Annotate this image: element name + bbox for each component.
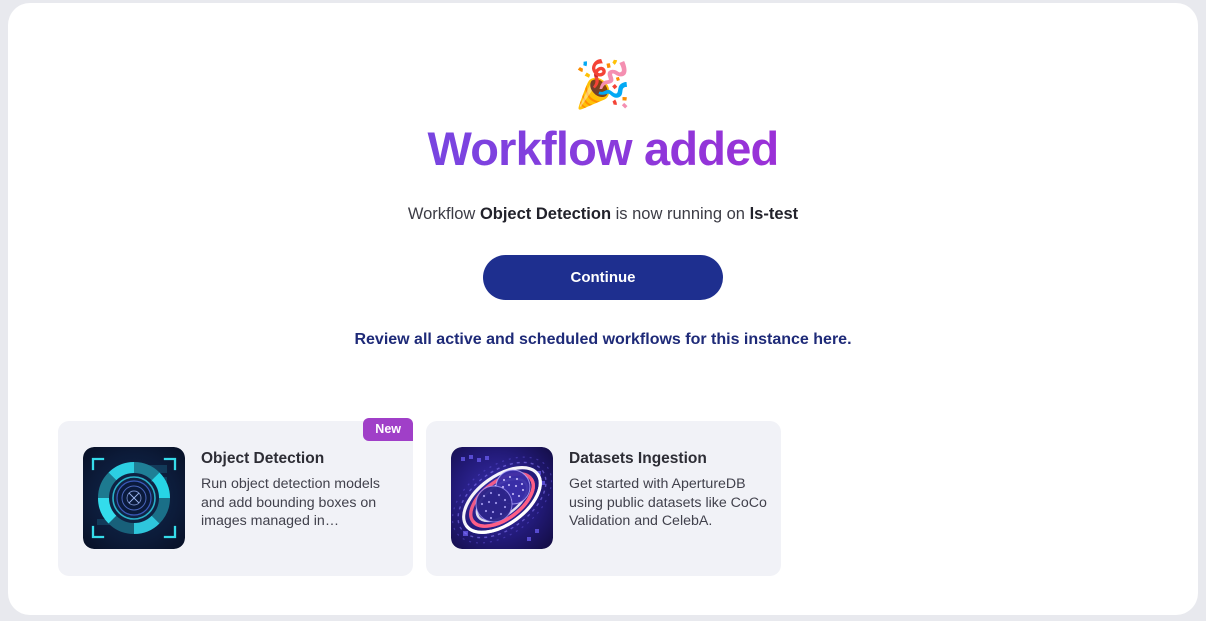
object-detection-thumbnail (83, 447, 185, 549)
card-content: Object Detection Run object detection mo… (83, 447, 399, 549)
card-text: Object Detection Run object detection mo… (201, 447, 399, 549)
subtitle: Workflow Object Detection is now running… (8, 203, 1198, 225)
review-workflows-link[interactable]: Review all active and scheduled workflow… (354, 331, 851, 349)
datasets-ingestion-thumbnail (451, 447, 553, 549)
workflow-card-list: New (58, 421, 789, 577)
subtitle-prefix: Workflow (408, 205, 480, 223)
card-description: Get started with ApertureDB using public… (569, 475, 767, 531)
party-popper-icon: 🎉 (8, 55, 1198, 113)
subtitle-instance-name: ls-test (750, 205, 799, 223)
continue-button[interactable]: Continue (483, 255, 723, 300)
card-description: Run object detection models and add boun… (201, 475, 399, 531)
card-content: Datasets Ingestion Get started with Aper… (451, 447, 767, 549)
subtitle-workflow-name: Object Detection (480, 205, 611, 223)
card-title: Datasets Ingestion (569, 449, 767, 469)
subtitle-middle: is now running on (611, 205, 750, 223)
card-text: Datasets Ingestion Get started with Aper… (569, 447, 767, 549)
page-title: Workflow added (8, 121, 1198, 177)
hero-section: 🎉 Workflow added Workflow Object Detecti… (8, 3, 1198, 349)
status-badge: New (363, 418, 413, 441)
app-panel: 🎉 Workflow added Workflow Object Detecti… (8, 3, 1198, 615)
card-title: Object Detection (201, 449, 399, 469)
workflow-card-object-detection[interactable]: New (58, 421, 413, 576)
workflow-card-datasets-ingestion[interactable]: Datasets Ingestion Get started with Aper… (426, 421, 781, 576)
